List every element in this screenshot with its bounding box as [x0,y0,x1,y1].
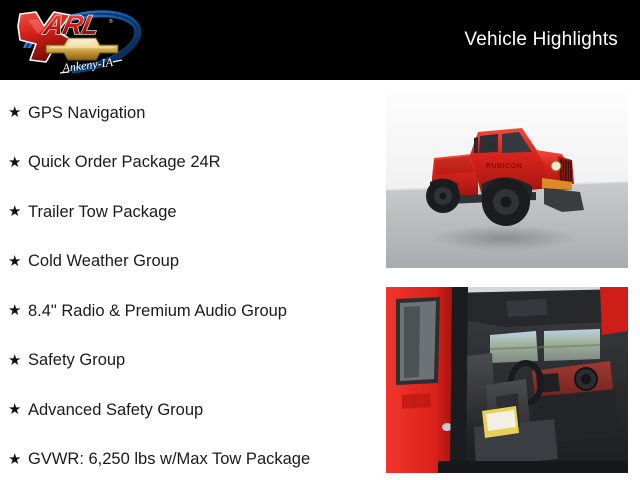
trademark-mark: ® [109,18,113,25]
vehicle-highlights-page: ARL ® Ankeny-IA Vehicle Highlights ★ GPS… [0,0,640,480]
door-jamb [450,287,468,473]
star-bullet-icon: ★ [8,303,28,318]
body-side [600,287,628,335]
star-bullet-icon: ★ [8,105,28,120]
list-item: ★ Quick Order Package 24R [0,138,372,188]
svg-text:ARL: ARL [40,9,101,40]
list-item: ★ GVWR: 6,250 lbs w/Max Tow Package [0,435,372,480]
list-item: ★ GPS Navigation [0,88,372,138]
star-bullet-icon: ★ [8,204,28,219]
interior-vehicle-photo [386,287,628,473]
list-item-label: Cold Weather Group [28,252,179,270]
star-bullet-icon: ★ [8,353,28,368]
karl-chevrolet-ankeny-logo: ARL ® Ankeny-IA [8,2,158,80]
exterior-vehicle-photo: RUBICON [386,92,628,268]
door-sill [438,461,628,473]
list-item-label: Safety Group [28,351,125,369]
front-wheel [482,178,530,226]
list-item-label: Trailer Tow Package [28,203,177,221]
list-item: ★ Cold Weather Group [0,237,372,287]
list-item-label: GPS Navigation [28,104,145,122]
list-item-label: 8.4" Radio & Premium Audio Group [28,302,287,320]
list-item: ★ Trailer Tow Package [0,187,372,237]
star-bullet-icon: ★ [8,402,28,417]
star-bullet-icon: ★ [8,452,28,467]
list-item-label: Advanced Safety Group [28,401,203,419]
vehicle-shadow [432,225,576,251]
vehicle-highlights-list: ★ GPS Navigation ★ Quick Order Package 2… [0,88,372,480]
list-item: ★ Safety Group [0,336,372,386]
rubicon-decal: RUBICON [486,163,522,170]
list-item-label: Quick Order Package 24R [28,153,221,171]
star-bullet-icon: ★ [8,254,28,269]
page-title: Vehicle Highlights [464,29,618,51]
star-bullet-icon: ★ [8,155,28,170]
list-item-label: GVWR: 6,250 lbs w/Max Tow Package [28,450,310,468]
rear-wheel [426,179,460,213]
list-item: ★ 8.4" Radio & Premium Audio Group [0,286,372,336]
door-handle [402,393,431,409]
page-header: ARL ® Ankeny-IA Vehicle Highlights [0,0,640,80]
list-item: ★ Advanced Safety Group [0,385,372,435]
logo-wordmark: ARL [40,9,101,40]
